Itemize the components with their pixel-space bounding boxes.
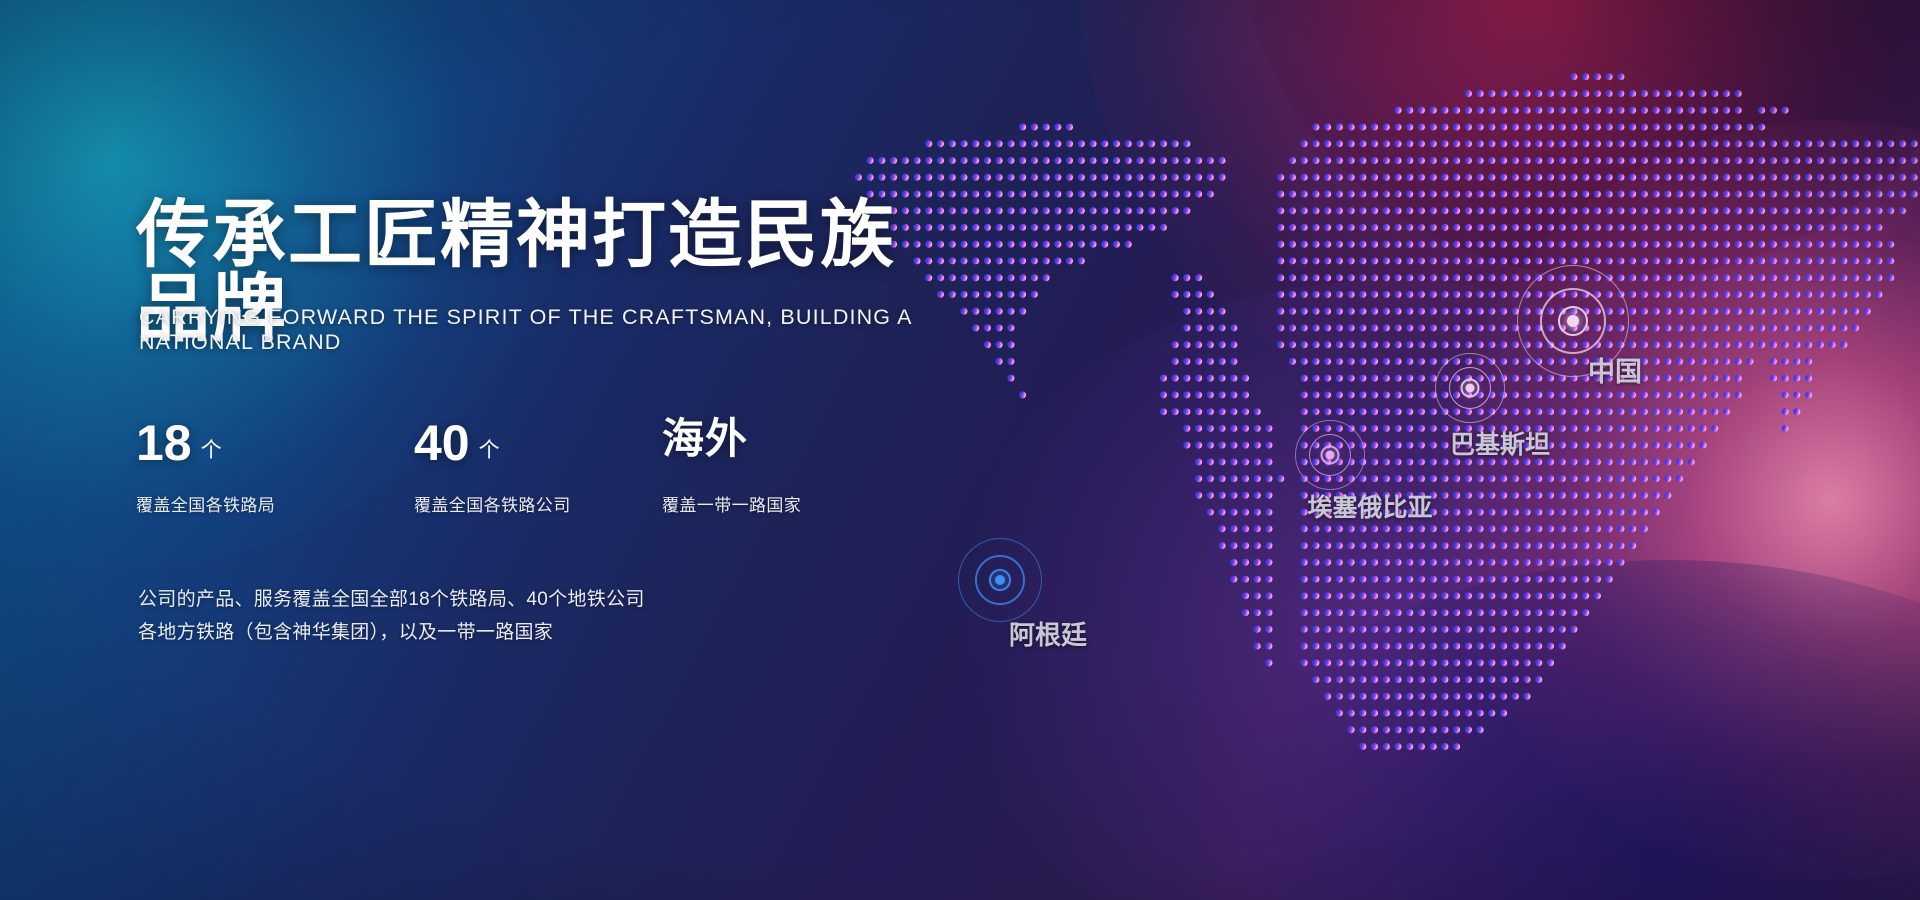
stat-value-row: 18 个 bbox=[136, 418, 414, 474]
stat-value-row: 40 个 bbox=[414, 418, 662, 474]
stat-description: 覆盖一带一路国家 bbox=[662, 491, 801, 516]
stats-row: 18 个 覆盖全国各铁路局 40 个 覆盖全国各铁路公司 海外 覆盖一带一路国家 bbox=[136, 418, 801, 516]
stat-description: 覆盖全国各铁路局 bbox=[136, 491, 414, 516]
description-line-2: 各地方铁路（包含神华集团），以及一带一路国家 bbox=[138, 616, 645, 649]
stat-value: 40 bbox=[414, 418, 470, 468]
description-line-1: 公司的产品、服务覆盖全国全部18个铁路局、40个地铁公司 bbox=[138, 583, 645, 616]
description-paragraph: 公司的产品、服务覆盖全国全部18个铁路局、40个地铁公司 各地方铁路（包含神华集… bbox=[138, 583, 645, 649]
stat-unit: 个 bbox=[479, 434, 500, 464]
stat-value: 18 bbox=[136, 418, 192, 468]
page-subtitle: CARRYING FORWARD THE SPIRIT OF THE CRAFT… bbox=[139, 305, 956, 355]
stat-block-overseas: 海外 覆盖一带一路国家 bbox=[662, 418, 801, 516]
content-column: 传承工匠精神打造民族品牌 CARRYING FORWARD THE SPIRIT… bbox=[136, 0, 956, 900]
stat-value-row: 海外 bbox=[662, 418, 801, 474]
stat-description: 覆盖全国各铁路公司 bbox=[414, 491, 662, 516]
stat-value: 海外 bbox=[662, 418, 748, 460]
banner-stage: 中国巴基斯坦埃塞俄比亚阿根廷 传承工匠精神打造民族品牌 CARRYING FOR… bbox=[0, 0, 1920, 900]
stat-block-railway-companies: 40 个 覆盖全国各铁路公司 bbox=[414, 418, 662, 516]
stat-block-railway-bureaus: 18 个 覆盖全国各铁路局 bbox=[136, 418, 414, 516]
stat-unit: 个 bbox=[201, 434, 222, 464]
